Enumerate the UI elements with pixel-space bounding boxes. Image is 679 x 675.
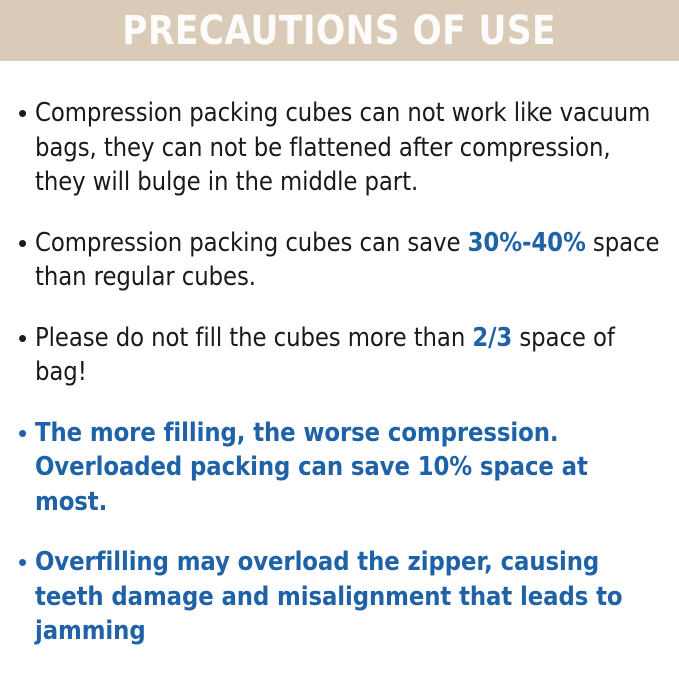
bullet-point-icon: • <box>18 545 35 579</box>
text-segment: Please do not fill the cubes more than <box>35 323 472 353</box>
list-item: •Please do not fill the cubes more than … <box>0 321 679 390</box>
page-title: PRECAUTIONS OF USE <box>123 11 557 51</box>
bullet-point-icon: • <box>18 96 35 130</box>
precautions-graphic: PRECAUTIONS OF USE •Compression packing … <box>0 0 679 645</box>
list-item-text: Overfilling may overload the zipper, cau… <box>35 545 665 649</box>
list-item: •Compression packing cubes can save 30%-… <box>0 226 679 295</box>
list-item-text: Compression packing cubes can not work l… <box>35 96 665 200</box>
text-segment: Overfilling may overload the zipper, cau… <box>35 547 622 646</box>
list-item-text: Compression packing cubes can save 30%-4… <box>35 226 665 295</box>
highlighted-value: 30%-40% <box>468 228 586 258</box>
text-segment: The more filling, the worse compression.… <box>35 418 588 517</box>
list-item: •The more filling, the worse compression… <box>0 416 679 520</box>
text-segment: Compression packing cubes can not work l… <box>35 98 650 197</box>
header-band: PRECAUTIONS OF USE <box>0 0 679 61</box>
precautions-list: •Compression packing cubes can not work … <box>0 61 679 675</box>
bullet-point-icon: • <box>18 416 35 450</box>
list-item: •Overfilling may overload the zipper, ca… <box>0 545 679 649</box>
list-item-text: Please do not fill the cubes more than 2… <box>35 321 665 390</box>
list-item: •Compression packing cubes can not work … <box>0 96 679 200</box>
highlighted-value: 2/3 <box>472 323 512 353</box>
text-segment: Compression packing cubes can save <box>35 228 468 258</box>
list-item-text: The more filling, the worse compression.… <box>35 416 665 520</box>
bullet-point-icon: • <box>18 226 35 260</box>
bullet-point-icon: • <box>18 321 35 355</box>
